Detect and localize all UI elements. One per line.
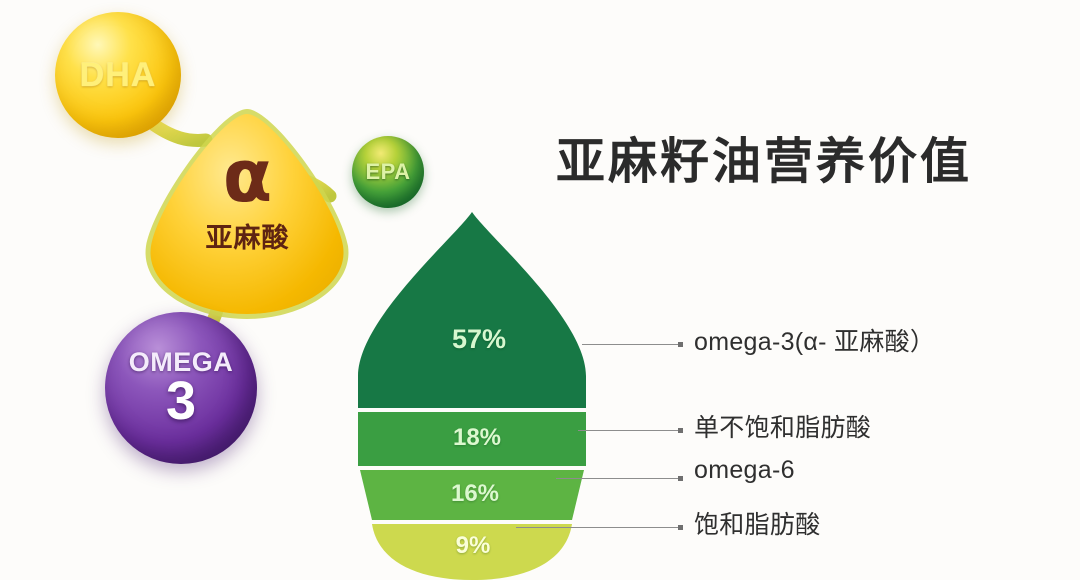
dha-label: DHA [80,58,157,92]
epa-sphere: EPA [352,136,424,208]
leader-dot-0 [678,342,683,347]
leader-line-2 [556,478,680,479]
leaf-segment-0-fill [358,212,586,408]
alpha-symbol: α [140,140,355,212]
epa-label: EPA [365,161,410,183]
leaf-segment-2: 16% [358,470,586,520]
alpha-linolenic-shape: α 亚麻酸 [140,108,355,320]
callout-label-2: omega-6 [694,456,795,485]
leaf-composition-chart: 57% 18% 16% 9% [358,212,586,550]
leaf-segment-1: 18% [358,412,586,466]
leader-line-3 [516,527,680,528]
leaf-segment-2-value: 16% [358,480,586,508]
leader-line-0 [582,344,680,345]
leaf-segment-3: 9% [358,524,586,580]
leaf-segment-0-value: 57% [358,324,586,355]
leader-dot-3 [678,525,683,530]
alpha-sublabel: 亚麻酸 [140,216,355,255]
callout-label-1: 单不饱和脂肪酸 [694,408,871,444]
leaf-segment-0: 57% [358,212,586,408]
omega3-number: 3 [166,374,196,428]
infographic-canvas: DHA EPA α 亚麻酸 OMEGA 3 亚麻籽油营养价值 57% 18% 1… [0,0,1080,557]
leader-dot-1 [678,428,683,433]
leaf-segment-1-value: 18% [358,424,586,452]
callout-label-0: omega-3(α- 亚麻酸） [694,322,935,358]
leader-dot-2 [678,476,683,481]
callout-label-3: 饱和脂肪酸 [694,505,821,541]
page-title: 亚麻籽油营养价值 [556,122,972,193]
leaf-segment-3-value: 9% [358,532,586,560]
omega3-sphere: OMEGA 3 [105,312,257,464]
leader-line-1 [578,430,680,431]
